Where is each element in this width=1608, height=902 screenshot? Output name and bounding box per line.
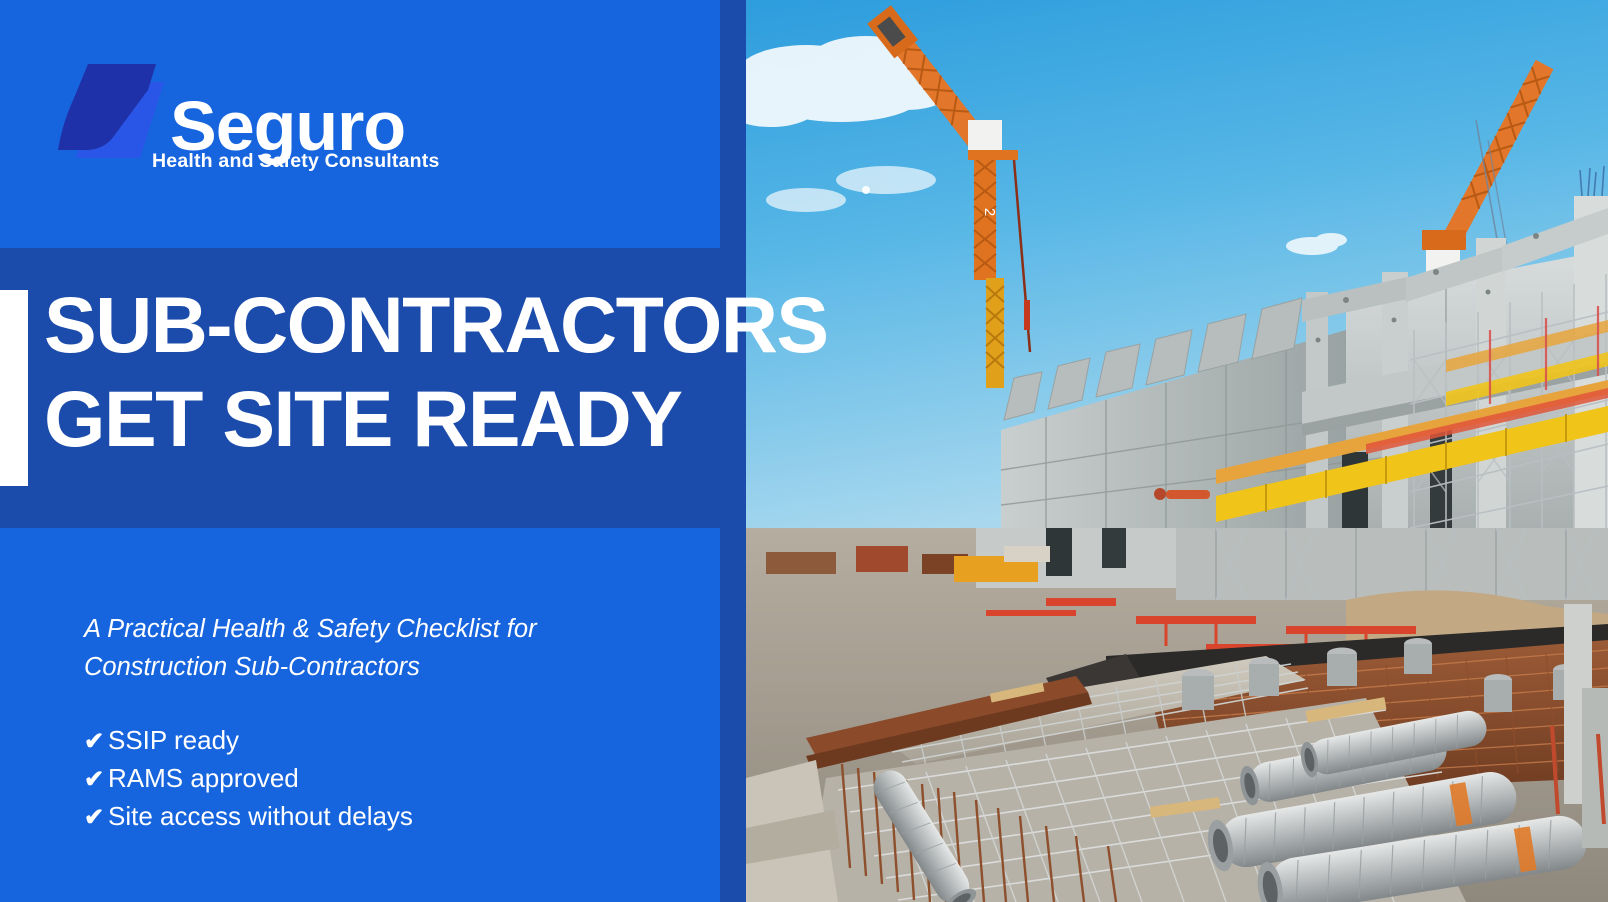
headline-accent-bar [0, 290, 28, 486]
list-item: ✔ SSIP ready [84, 722, 684, 760]
poster-canvas: 2 [0, 0, 1608, 902]
brand-logo: Seguro Health and Safety Consultants [52, 48, 432, 178]
page-title-line-1: SUB-CONTRACTORS [44, 278, 964, 372]
page-title-line-2: GET SITE READY [44, 372, 964, 466]
check-icon: ✔ [84, 761, 108, 798]
svg-text:2: 2 [981, 208, 998, 216]
check-icon: ✔ [84, 799, 108, 836]
brand-tagline: Health and Safety Consultants [152, 150, 440, 173]
page-title: SUB-CONTRACTORS GET SITE READY [44, 278, 964, 466]
list-item: ✔ RAMS approved [84, 760, 684, 798]
list-item-label: RAMS approved [108, 760, 299, 797]
benefits-checklist: ✔ SSIP ready ✔ RAMS approved ✔ Site acce… [84, 722, 684, 836]
rebar-foundation-site-photo [746, 528, 1608, 902]
list-item-label: SSIP ready [108, 722, 239, 759]
brand-name: Seguro [170, 96, 405, 156]
check-icon: ✔ [84, 723, 108, 760]
page-subtitle-line-2: Construction Sub-Contractors [84, 648, 684, 686]
list-item: ✔ Site access without delays [84, 798, 684, 836]
background-panel-bottom-left [0, 528, 720, 902]
page-subtitle: A Practical Health & Safety Checklist fo… [84, 610, 684, 686]
page-subtitle-line-1: A Practical Health & Safety Checklist fo… [84, 610, 684, 648]
list-item-label: Site access without delays [108, 798, 413, 835]
